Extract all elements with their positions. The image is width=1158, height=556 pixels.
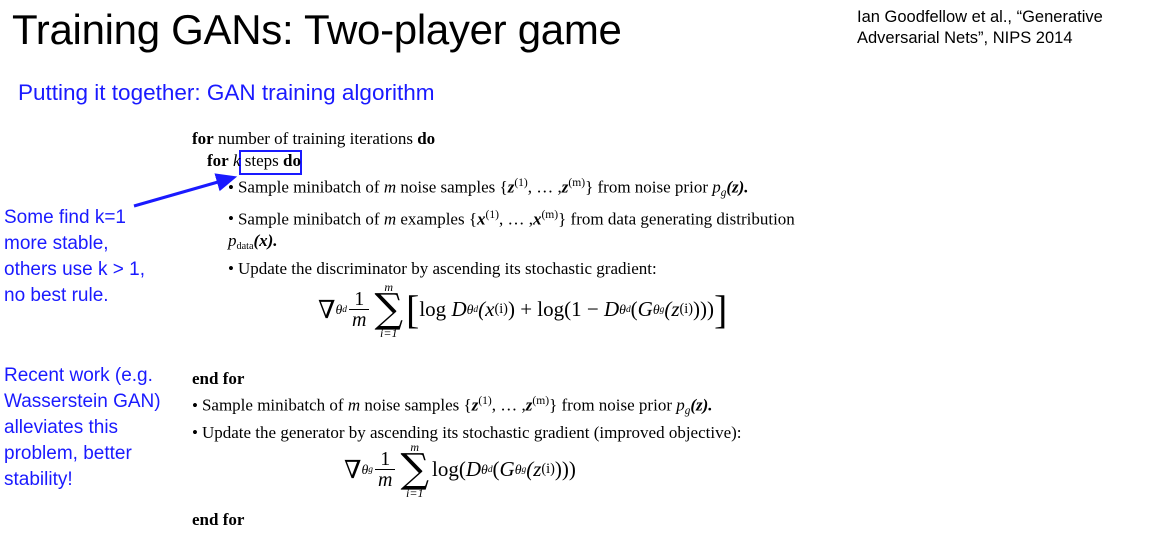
superscript: (m) bbox=[541, 208, 558, 221]
equation-generator-gradient: ∇θg 1 m m ∑ i=1 log(Dθd(Gθg(z(i)))) bbox=[344, 441, 576, 499]
keyword-do: do bbox=[283, 151, 301, 170]
bullet-glyph-icon: • bbox=[192, 396, 198, 415]
slide-subtitle: Putting it together: GAN training algori… bbox=[18, 80, 434, 106]
paren-close: ) bbox=[508, 297, 515, 322]
superscript: (1) bbox=[485, 208, 498, 221]
sum-lower-limit: i=1 bbox=[380, 327, 397, 339]
nabla-symbol: ∇ bbox=[344, 455, 361, 485]
plus-operator: + bbox=[520, 297, 532, 322]
log-operator: log( bbox=[432, 457, 466, 482]
annotation-line: more stable, bbox=[4, 231, 194, 257]
equation-discriminator-gradient: ∇θd 1 m m ∑ i=1 [ log Dθd(x(i)) + log(1 … bbox=[318, 281, 727, 339]
text: , … , bbox=[499, 209, 533, 228]
subscript-d: d bbox=[342, 305, 347, 315]
fraction-one-over-m: 1 m bbox=[375, 449, 395, 491]
variable-p: p bbox=[228, 231, 237, 250]
algorithm-bullet-update-discriminator: •Update the discriminator by ascending i… bbox=[192, 258, 922, 280]
superscript: (m) bbox=[568, 176, 585, 189]
nabla-symbol: ∇ bbox=[318, 295, 335, 325]
argument-x: (x bbox=[478, 297, 494, 322]
annotation-wasserstein: Recent work (e.g. Wasserstein GAN) allev… bbox=[4, 363, 194, 493]
text: Update the generator by ascending its st… bbox=[202, 423, 742, 442]
paren-close: ))) bbox=[693, 297, 714, 322]
bullet-glyph-icon: • bbox=[192, 423, 198, 442]
subscript-data: data bbox=[237, 241, 254, 252]
discriminator-D: D bbox=[451, 297, 466, 322]
generator-G: G bbox=[638, 297, 653, 322]
text: examples { bbox=[400, 209, 477, 228]
text: noise samples { bbox=[400, 178, 507, 197]
page-title: Training GANs: Two-player game bbox=[12, 6, 622, 54]
discriminator-D: D bbox=[604, 297, 619, 322]
log-operator: log(1 − bbox=[537, 297, 598, 322]
fraction-one-over-m: 1 m bbox=[349, 289, 369, 331]
generator-G: G bbox=[500, 457, 515, 482]
summation: m ∑ i=1 bbox=[374, 281, 403, 339]
superscript-i: (i) bbox=[541, 461, 554, 478]
superscript: (1) bbox=[478, 394, 491, 407]
algorithm-pdata-line: pdata(x). bbox=[192, 230, 922, 258]
fraction-denominator: m bbox=[349, 309, 369, 330]
text: } from noise prior bbox=[585, 178, 708, 197]
annotation-line: alleviates this bbox=[4, 415, 194, 441]
algorithm-bullet-sample-examples: •Sample minibatch of m examples {x(1), …… bbox=[192, 204, 922, 231]
variable-p: p bbox=[676, 396, 685, 415]
argument-z: (z bbox=[526, 457, 541, 482]
bullet-glyph-icon: • bbox=[228, 178, 234, 197]
bracket-close: ] bbox=[714, 295, 727, 325]
argument-z: (z). bbox=[690, 396, 712, 415]
text: } from noise prior bbox=[549, 396, 672, 415]
algorithm-bullet-sample-noise-1: •Sample minibatch of m noise samples {z(… bbox=[192, 172, 922, 204]
bracket-open: [ bbox=[406, 295, 419, 325]
text: Sample minibatch of bbox=[238, 209, 380, 228]
text: } from data generating distribution bbox=[558, 209, 795, 228]
annotation-line: others use k > 1, bbox=[4, 257, 194, 283]
annotation-line: no best rule. bbox=[4, 283, 194, 309]
sum-lower-limit: i=1 bbox=[406, 487, 423, 499]
subscript-theta: θ bbox=[481, 462, 488, 478]
fraction-numerator: 1 bbox=[351, 289, 367, 309]
sigma-icon: ∑ bbox=[374, 293, 403, 327]
discriminator-D: D bbox=[466, 457, 481, 482]
argument-x: (x). bbox=[253, 231, 277, 250]
variable-m: m bbox=[384, 178, 396, 197]
keyword-for: for bbox=[192, 129, 214, 148]
annotation-line: problem, better bbox=[4, 441, 194, 467]
citation-line-1: Ian Goodfellow et al., “Generative bbox=[857, 7, 1157, 28]
subscript-theta: θ bbox=[335, 302, 342, 318]
annotation-line: Some find k=1 bbox=[4, 205, 194, 231]
subscript-theta: θ bbox=[467, 302, 474, 318]
subscript-theta: θ bbox=[361, 462, 368, 478]
algorithm-line-for-iterations: for number of training iterations do bbox=[192, 128, 922, 150]
log-operator: log bbox=[419, 297, 446, 322]
text: , … , bbox=[528, 178, 562, 197]
variable-m: m bbox=[384, 209, 396, 228]
text: Update the discriminator by ascending it… bbox=[238, 259, 657, 278]
superscript: (m) bbox=[532, 394, 549, 407]
text: , … , bbox=[492, 396, 526, 415]
paren-open: ( bbox=[493, 457, 500, 482]
fraction-denominator: m bbox=[375, 469, 395, 490]
text: noise samples { bbox=[364, 396, 471, 415]
variable-k: k bbox=[233, 151, 241, 170]
subscript-theta: θ bbox=[619, 302, 626, 318]
algorithm-bullet-sample-noise-2: •Sample minibatch of m noise samples {z(… bbox=[192, 390, 922, 422]
keyword-end-for: end for bbox=[192, 369, 244, 388]
paren-open: ( bbox=[631, 297, 638, 322]
paren-close: ))) bbox=[555, 457, 576, 482]
variable-m: m bbox=[348, 396, 360, 415]
bullet-glyph-icon: • bbox=[228, 259, 234, 278]
text: Sample minibatch of bbox=[238, 178, 380, 197]
subscript-theta: θ bbox=[653, 302, 660, 318]
subscript-g: g bbox=[368, 465, 373, 475]
annotation-line: Wasserstein GAN) bbox=[4, 389, 194, 415]
steps-label: steps bbox=[245, 151, 279, 170]
citation-reference: Ian Goodfellow et al., “Generative Adver… bbox=[857, 7, 1157, 49]
annotation-k-steps: Some find k=1 more stable, others use k … bbox=[4, 205, 194, 309]
sigma-icon: ∑ bbox=[400, 453, 429, 487]
summation: m ∑ i=1 bbox=[400, 441, 429, 499]
annotation-line: Recent work (e.g. bbox=[4, 363, 194, 389]
argument-z: (z bbox=[664, 297, 679, 322]
superscript: (1) bbox=[514, 176, 527, 189]
bullet-glyph-icon: • bbox=[228, 209, 234, 228]
loop-description: number of training iterations bbox=[218, 129, 413, 148]
superscript-i: (i) bbox=[494, 301, 507, 318]
algorithm-end-for-outer: end for bbox=[192, 510, 244, 530]
variable-p: p bbox=[712, 178, 721, 197]
text: Sample minibatch of bbox=[202, 396, 344, 415]
citation-line-2: Adversarial Nets”, NIPS 2014 bbox=[857, 28, 1157, 49]
fraction-numerator: 1 bbox=[377, 449, 393, 469]
keyword-for: for bbox=[207, 151, 229, 170]
superscript-i: (i) bbox=[680, 301, 693, 318]
algorithm-end-for-inner: end for bbox=[192, 368, 922, 390]
subscript-theta: θ bbox=[515, 462, 522, 478]
annotation-line: stability! bbox=[4, 467, 194, 493]
argument-z: (z). bbox=[726, 178, 748, 197]
algorithm-line-for-k-steps: for k steps do bbox=[192, 150, 922, 172]
keyword-do: do bbox=[417, 129, 435, 148]
